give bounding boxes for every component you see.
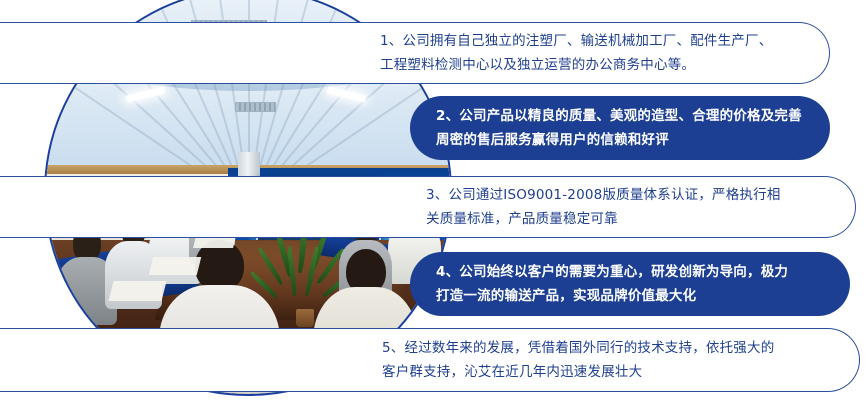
advantage-item-2: 2、公司产品以精良的质量、美观的造型、合理的价格及完善 周密的售后服务赢得用户的…: [410, 96, 830, 160]
advantage-item-5: 5、经过数年来的发展，凭借着国外同行的技术支持，依托强大的 客户群支持，沁艾在近…: [0, 328, 860, 392]
advantage-item-1: 1、公司拥有自己独立的注塑厂、输送机械加工厂、配件生产厂、 工程塑料检测中心以及…: [0, 22, 830, 84]
plant-pot: [296, 309, 314, 327]
advantage-text-4: 4、公司始终以客户的需要为重心，研发创新为导向，极力 打造一流的输送产品，实现品…: [436, 260, 788, 308]
advantage-item-4: 4、公司始终以客户的需要为重心，研发创新为导向，极力 打造一流的输送产品，实现品…: [410, 252, 850, 316]
advantage-text-5: 5、经过数年来的发展，凭借着国外同行的技术支持，依托强大的 客户群支持，沁艾在近…: [382, 336, 774, 384]
advantage-text-2: 2、公司产品以精良的质量、美观的造型、合理的价格及完善 周密的售后服务赢得用户的…: [436, 104, 802, 152]
advantages-infographic: 1、公司拥有自己独立的注塑厂、输送机械加工厂、配件生产厂、 工程塑料检测中心以及…: [0, 0, 865, 408]
advantage-item-3: 3、公司通过ISO9001-2008版质量体系认证，严格执行相 关质量标准，产品…: [0, 176, 856, 238]
advantage-text-3: 3、公司通过ISO9001-2008版质量体系认证，严格执行相 关质量标准，产品…: [426, 183, 781, 231]
advantage-text-1: 1、公司拥有自己独立的注塑厂、输送机械加工厂、配件生产厂、 工程塑料检测中心以及…: [380, 29, 772, 77]
ceiling-vent: [235, 102, 276, 112]
